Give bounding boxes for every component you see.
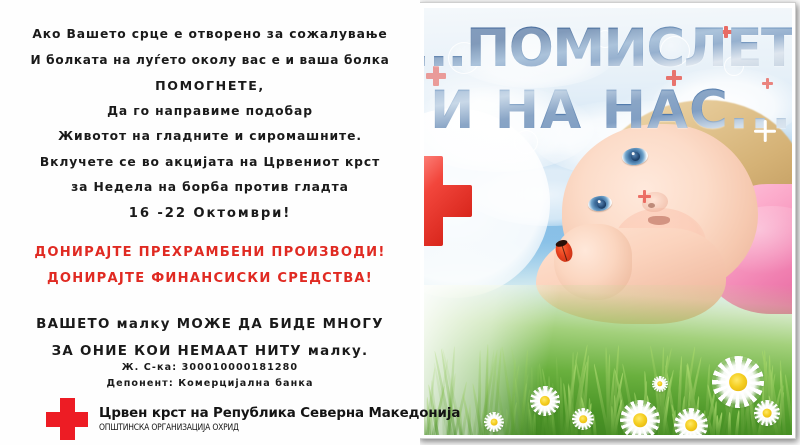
appeal-line-8-dates: 16 -22 Октомври! <box>8 201 412 227</box>
appeal-line-7: за Недела на борба против гладта <box>8 175 412 201</box>
appeal-line-2: И болката на луѓето околу вас е и ваша б… <box>8 48 412 74</box>
red-cross-emblem-icon <box>424 156 472 246</box>
poster-canvas: Ако Вашето срце е отворено за сожалување… <box>0 0 800 445</box>
donate-food-line: ДОНИРАЈТЕ ПРЕХРАМБЕНИ ПРОИЗВОДИ! <box>8 240 412 266</box>
appeal-line-6: Вклучете се во акцијата на Црвениот крст <box>8 150 412 176</box>
small-red-cross-icon <box>762 78 773 89</box>
organization-text: Црвен крст на Република Северна Македони… <box>99 405 460 434</box>
organization-footer: Црвен крст на Република Северна Македони… <box>46 398 460 440</box>
bubble-icon <box>660 36 690 66</box>
grass-blade <box>532 413 535 435</box>
text-column: Ако Вашето срце е отворено за сожалување… <box>0 0 420 445</box>
sparkle-icon <box>754 120 776 142</box>
red-cross-icon <box>46 398 88 440</box>
bubble-icon <box>596 30 614 48</box>
bank-depositary: Депонент: Комерцијална банка <box>8 376 412 392</box>
organization-name: Црвен крст на Република Северна Македони… <box>99 405 460 422</box>
grass-blade <box>727 412 730 435</box>
daisy-flower-icon <box>754 400 780 426</box>
appeal-line-4: Да го направиме подобар <box>8 99 412 125</box>
slogan-line-1: ВАШЕТО малку МОЖЕ ДА БИДЕ МНОГУ <box>8 311 412 338</box>
bubble-icon <box>448 42 480 74</box>
daisy-flower-icon <box>674 408 708 435</box>
daisy-flower-icon <box>652 376 668 392</box>
small-red-cross-icon <box>426 66 446 86</box>
small-red-cross-icon <box>720 26 732 38</box>
slogan-block: ВАШЕТО малку МОЖЕ ДА БИДЕ МНОГУ ЗА ОНИЕ … <box>8 311 412 365</box>
photo-image: ...ПОМИСЛЕТЕ И НА НАС... <box>424 8 792 435</box>
appeal-text-block: Ако Вашето срце е отворено за сожалување… <box>8 22 412 226</box>
daisy-flower-icon <box>484 412 504 432</box>
bank-account-number: Ж. С-ка: 300010000181280 <box>8 360 412 376</box>
small-red-cross-icon <box>666 70 682 86</box>
appeal-line-1: Ако Вашето срце е отворено за сожалување <box>8 22 412 48</box>
daisy-flower-icon <box>530 386 560 416</box>
bubble-icon <box>724 56 744 76</box>
appeal-line-5: Животот на гладните и сиромашните. <box>8 124 412 150</box>
donation-call-block: ДОНИРАЈТЕ ПРЕХРАМБЕНИ ПРОИЗВОДИ! ДОНИРАЈ… <box>8 240 412 292</box>
daisy-flower-icon <box>572 408 594 430</box>
organization-branch: ОПШТИНСКА ОРГАНИЗАЦИЈА ОХРИД <box>99 422 431 434</box>
appeal-line-3: ПОМОГНЕТЕ, <box>8 73 412 99</box>
daisy-flower-icon <box>620 400 660 435</box>
photo-panel: ...ПОМИСЛЕТЕ И НА НАС... <box>418 2 796 439</box>
bank-details-block: Ж. С-ка: 300010000181280 Депонент: Комер… <box>8 360 412 392</box>
small-red-cross-icon <box>638 190 651 203</box>
child-mouth <box>648 216 670 225</box>
donate-money-line: ДОНИРАЈТЕ ФИНАНСИСКИ СРЕДСТВА! <box>8 266 412 292</box>
